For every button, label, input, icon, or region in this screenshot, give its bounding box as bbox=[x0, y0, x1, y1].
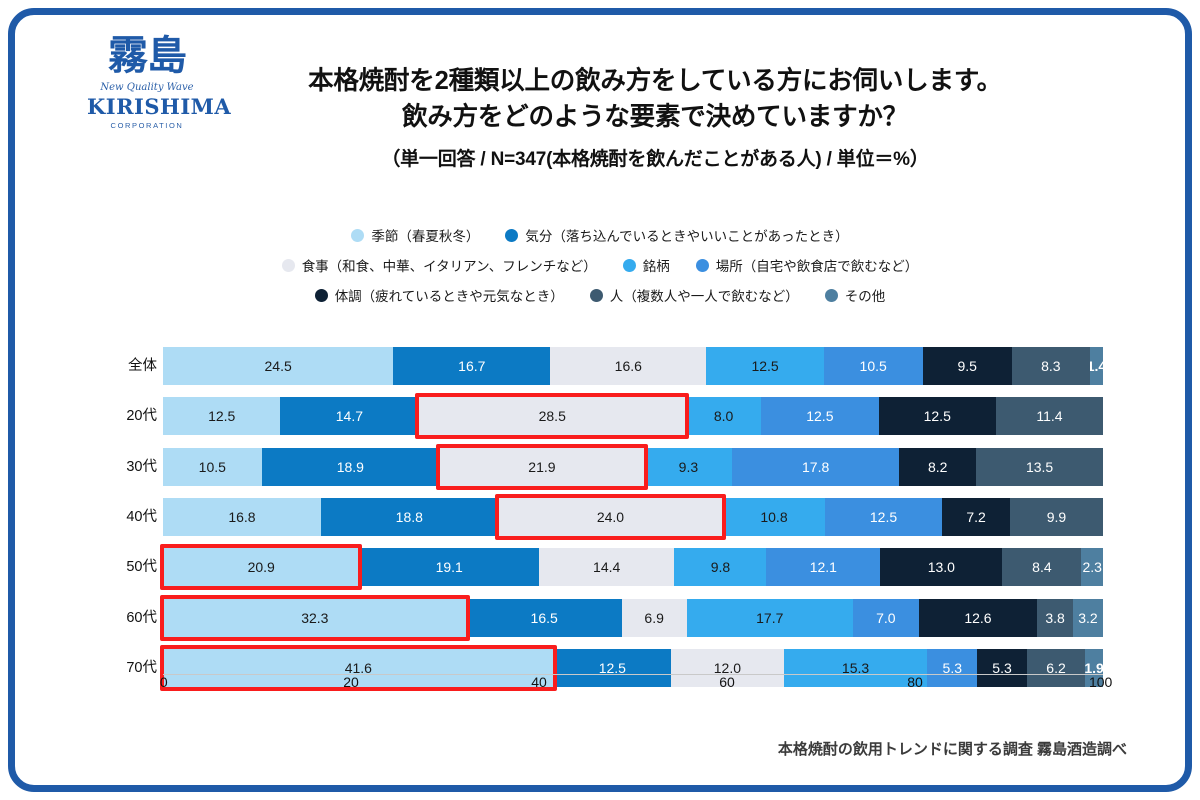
legend-item[interactable]: 銘柄 bbox=[623, 255, 670, 275]
bar-segment: 12.6 bbox=[919, 599, 1037, 637]
chart-bar-row: 60代32.316.56.917.77.012.63.83.2 bbox=[163, 599, 1103, 637]
x-axis-tick-label: 20 bbox=[343, 674, 359, 690]
legend-row: 季節（春夏秋冬）気分（落ち込んでいるときやいいことがあったとき） bbox=[15, 225, 1185, 245]
legend-item[interactable]: 体調（疲れているときや元気なとき） bbox=[315, 285, 564, 305]
chart-bar-row: 20代12.514.728.58.012.512.511.4 bbox=[163, 397, 1103, 435]
page-title: 本格焼酎を2種類以上の飲み方をしている方にお伺いします。 飲み方をどのような要素… bbox=[205, 63, 1105, 171]
bar-segment: 21.9 bbox=[439, 448, 645, 486]
chart-legend: 季節（春夏秋冬）気分（落ち込んでいるときやいいことがあったとき）食事（和食、中華… bbox=[15, 225, 1185, 315]
bar-segment: 32.3 bbox=[163, 599, 467, 637]
bar-segment: 12.5 bbox=[825, 498, 943, 536]
bar-segment: 16.6 bbox=[550, 347, 706, 385]
bar-segment: 13.0 bbox=[880, 548, 1002, 586]
legend-swatch-icon bbox=[505, 229, 518, 242]
legend-item-label: 銘柄 bbox=[643, 255, 670, 275]
x-axis-tick-label: 0 bbox=[160, 674, 168, 690]
chart-bar-row: 40代16.818.824.010.812.57.29.9 bbox=[163, 498, 1103, 536]
bar-segment: 17.7 bbox=[687, 599, 853, 637]
bar-segment: 12.5 bbox=[879, 397, 996, 435]
logo-tagline: New Quality Wave bbox=[87, 82, 207, 93]
bar-segment: 20.9 bbox=[163, 548, 359, 586]
bar-segment: 9.5 bbox=[923, 347, 1012, 385]
x-axis-tick-label: 80 bbox=[907, 674, 923, 690]
y-axis-category-label: 20代 bbox=[111, 397, 157, 435]
legend-swatch-icon bbox=[351, 229, 364, 242]
bar-segment: 16.8 bbox=[163, 498, 321, 536]
legend-swatch-icon bbox=[590, 289, 603, 302]
bar-segment: 16.7 bbox=[393, 347, 550, 385]
bar-segment: 7.2 bbox=[942, 498, 1010, 536]
x-axis-tick-label: 100 bbox=[1089, 674, 1112, 690]
bar-segment: 12.5 bbox=[761, 397, 878, 435]
x-axis-tick-label: 60 bbox=[719, 674, 735, 690]
kirishima-logo: 霧島 New Quality Wave KIRISHIMA CORPORATIO… bbox=[87, 37, 207, 130]
x-axis-tick-label: 40 bbox=[531, 674, 547, 690]
legend-item[interactable]: その他 bbox=[825, 285, 886, 305]
logo-kanji-mark: 霧島 bbox=[87, 37, 207, 75]
bar-segment: 9.9 bbox=[1010, 498, 1103, 536]
bar-segment: 10.5 bbox=[163, 448, 262, 486]
legend-swatch-icon bbox=[623, 259, 636, 272]
bar-segment: 13.5 bbox=[976, 448, 1103, 486]
legend-item-label: 食事（和食、中華、イタリアン、フレンチなど） bbox=[302, 255, 597, 275]
legend-swatch-icon bbox=[315, 289, 328, 302]
y-axis-category-label: 30代 bbox=[111, 448, 157, 486]
bar-segment: 24.0 bbox=[498, 498, 724, 536]
chart-bar-row: 全体24.516.716.612.510.59.58.31.4 bbox=[163, 347, 1103, 385]
legend-item[interactable]: 気分（落ち込んでいるときやいいことがあったとき） bbox=[505, 225, 848, 245]
bar-segment: 2.3 bbox=[1081, 548, 1103, 586]
legend-row: 食事（和食、中華、イタリアン、フレンチなど）銘柄場所（自宅や飲食店で飲むなど） bbox=[15, 255, 1185, 275]
bar-segment: 11.4 bbox=[996, 397, 1103, 435]
bar-segment: 7.0 bbox=[853, 599, 919, 637]
legend-item-label: その他 bbox=[845, 285, 886, 305]
bar-segment: 16.5 bbox=[467, 599, 622, 637]
bar-segment: 3.2 bbox=[1073, 599, 1103, 637]
x-axis: 020406080100 bbox=[163, 674, 1103, 694]
y-axis-category-label: 全体 bbox=[111, 347, 157, 385]
bar-segment: 1.4 bbox=[1090, 347, 1103, 385]
bar-segment: 8.3 bbox=[1012, 347, 1090, 385]
chart-plot-area: 全体24.516.716.612.510.59.58.31.420代12.514… bbox=[163, 343, 1103, 676]
bar-segment: 8.0 bbox=[686, 397, 761, 435]
legend-item-label: 人（複数人や一人で飲むなど） bbox=[610, 285, 799, 305]
y-axis-category-label: 40代 bbox=[111, 498, 157, 536]
bar-segment: 8.4 bbox=[1002, 548, 1081, 586]
legend-item-label: 場所（自宅や飲食店で飲むなど） bbox=[716, 255, 919, 275]
header: 霧島 New Quality Wave KIRISHIMA CORPORATIO… bbox=[15, 15, 1185, 200]
logo-corporation-text: CORPORATION bbox=[87, 121, 207, 130]
legend-row: 体調（疲れているときや元気なとき）人（複数人や一人で飲むなど）その他 bbox=[15, 285, 1185, 305]
bar-segment: 12.1 bbox=[766, 548, 880, 586]
bar-segment: 12.5 bbox=[706, 347, 824, 385]
legend-swatch-icon bbox=[696, 259, 709, 272]
title-line-1: 本格焼酎を2種類以上の飲み方をしている方にお伺いします。 bbox=[205, 63, 1105, 99]
legend-item[interactable]: 場所（自宅や飲食店で飲むなど） bbox=[696, 255, 919, 275]
legend-item[interactable]: 食事（和食、中華、イタリアン、フレンチなど） bbox=[282, 255, 597, 275]
bar-segment: 6.9 bbox=[622, 599, 687, 637]
bar-segment: 14.4 bbox=[539, 548, 674, 586]
title-line-2: 飲み方をどのような要素で決めていますか？ bbox=[205, 99, 1105, 135]
bar-segment: 18.8 bbox=[321, 498, 498, 536]
stacked-bar-chart: 全体24.516.716.612.510.59.58.31.420代12.514… bbox=[111, 343, 1111, 708]
bar-segment: 10.8 bbox=[723, 498, 825, 536]
bar-segment: 9.3 bbox=[645, 448, 732, 486]
legend-item-label: 体調（疲れているときや元気なとき） bbox=[335, 285, 564, 305]
bar-segment: 18.9 bbox=[262, 448, 439, 486]
legend-swatch-icon bbox=[825, 289, 838, 302]
bar-segment: 12.5 bbox=[163, 397, 280, 435]
chart-bar-row: 30代10.518.921.99.317.88.213.5 bbox=[163, 448, 1103, 486]
y-axis-category-label: 50代 bbox=[111, 548, 157, 586]
footer-source-note: 本格焼酎の飲用トレンドに関する調査 霧島酒造調べ bbox=[778, 738, 1127, 759]
bar-segment: 28.5 bbox=[418, 397, 686, 435]
y-axis-category-label: 60代 bbox=[111, 599, 157, 637]
y-axis-category-label: 70代 bbox=[111, 649, 157, 687]
bar-segment: 17.8 bbox=[732, 448, 899, 486]
logo-brand-name: KIRISHIMA bbox=[87, 94, 207, 119]
legend-swatch-icon bbox=[282, 259, 295, 272]
bar-segment: 8.2 bbox=[899, 448, 976, 486]
title-subtitle: （単一回答 / N=347(本格焼酎を飲んだことがある人) / 単位＝%） bbox=[205, 144, 1105, 171]
legend-item-label: 気分（落ち込んでいるときやいいことがあったとき） bbox=[525, 225, 848, 245]
bar-segment: 14.7 bbox=[280, 397, 418, 435]
legend-item-label: 季節（春夏秋冬） bbox=[371, 225, 479, 245]
bar-segment: 9.8 bbox=[674, 548, 766, 586]
bar-segment: 10.5 bbox=[824, 347, 923, 385]
bar-segment: 3.8 bbox=[1037, 599, 1073, 637]
legend-item[interactable]: 人（複数人や一人で飲むなど） bbox=[590, 285, 799, 305]
legend-item[interactable]: 季節（春夏秋冬） bbox=[351, 225, 479, 245]
chart-bar-row: 50代20.919.114.49.812.113.08.42.3 bbox=[163, 548, 1103, 586]
bar-segment: 19.1 bbox=[359, 548, 539, 586]
bar-segment: 24.5 bbox=[163, 347, 393, 385]
poster-frame: 霧島 New Quality Wave KIRISHIMA CORPORATIO… bbox=[8, 8, 1192, 792]
